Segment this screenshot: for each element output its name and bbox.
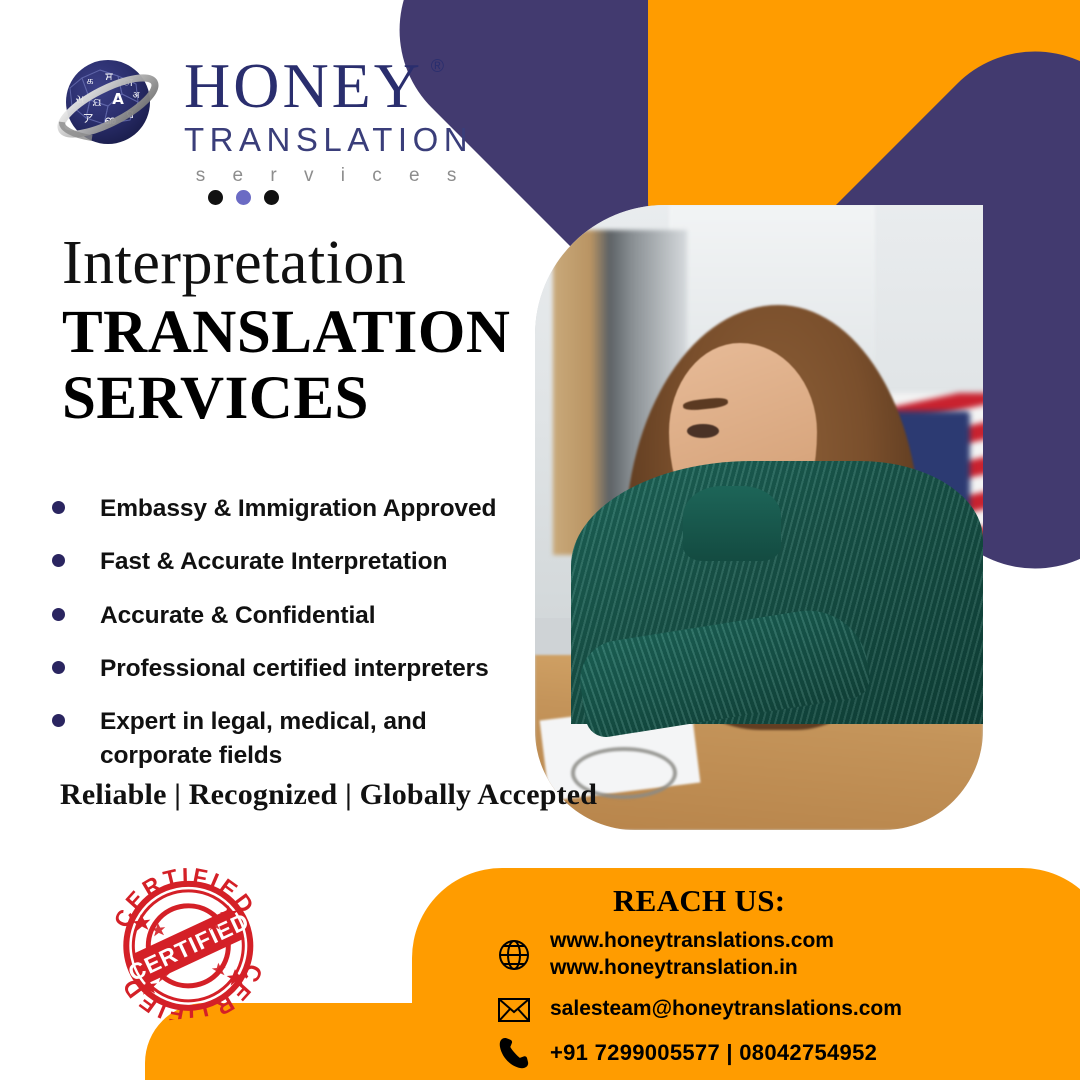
globe-icon: [492, 938, 536, 972]
contact-list: www.honeytranslations.com www.honeytrans…: [492, 928, 902, 1080]
feature-label: Embassy & Immigration Approved: [100, 492, 496, 526]
list-item: Professional certified interpreters: [52, 652, 522, 686]
contact-row-email[interactable]: salesteam@honeytranslations.com: [492, 996, 902, 1024]
phone-numbers[interactable]: +91 7299005577 | 08042754952: [550, 1039, 877, 1067]
svg-text:A: A: [112, 90, 124, 108]
dot-1: [208, 190, 223, 205]
decorative-dots: [208, 190, 279, 205]
poster-canvas: க ਸ ा સ ଯ A अ ア ഌ ସ HONEY ® TR: [0, 0, 1080, 1080]
svg-text:अ: अ: [133, 91, 141, 101]
registered-trademark-icon: ®: [431, 58, 447, 75]
bullet-icon: [52, 661, 65, 674]
hero-photo-content: [535, 205, 983, 830]
feature-label: Accurate & Confidential: [100, 599, 375, 633]
headline-bold-line-2: SERVICES: [62, 366, 510, 432]
brand-logo[interactable]: க ਸ ा સ ଯ A अ ア ഌ ସ HONEY ® TR: [52, 48, 473, 187]
bullet-icon: [52, 608, 65, 621]
logo-name-tertiary: s e r v i c e s: [184, 165, 473, 187]
list-item: Fast & Accurate Interpretation: [52, 545, 522, 579]
dot-2: [236, 190, 251, 205]
email-address[interactable]: salesteam@honeytranslations.com: [550, 996, 902, 1023]
svg-text:க: க: [86, 74, 93, 87]
phone-icon: [492, 1036, 536, 1070]
feature-label: Fast & Accurate Interpretation: [100, 545, 447, 579]
dot-3: [264, 190, 279, 205]
bullet-icon: [52, 501, 65, 514]
feature-list: Embassy & Immigration Approved Fast & Ac…: [52, 492, 522, 793]
logo-name-secondary: TRANSLATION: [184, 121, 473, 159]
website-line-1[interactable]: www.honeytranslations.com: [550, 929, 834, 952]
envelope-icon: [492, 996, 536, 1024]
list-item: Embassy & Immigration Approved: [52, 492, 522, 526]
bullet-icon: [52, 554, 65, 567]
globe-languages-icon: க ਸ ा સ ଯ A अ ア ഌ ସ: [52, 48, 170, 166]
website-line-2[interactable]: www.honeytranslation.in: [550, 956, 798, 979]
contact-heading: REACH US:: [613, 883, 785, 919]
bullet-icon: [52, 714, 65, 727]
hero-photo: [535, 205, 983, 830]
list-item: Accurate & Confidential: [52, 599, 522, 633]
headline-script-line: Interpretation: [62, 232, 510, 294]
logo-name-primary: HONEY: [184, 50, 423, 121]
feature-label: Expert in legal, medical, and corporate …: [100, 705, 460, 774]
list-item: Expert in legal, medical, and corporate …: [52, 705, 522, 774]
headline-bold-line-1: TRANSLATION: [62, 300, 510, 366]
logo-wordmark: HONEY ® TRANSLATION s e r v i c e s: [184, 48, 473, 187]
tagline: Reliable | Recognized | Globally Accepte…: [60, 778, 597, 812]
svg-text:ア: ア: [83, 112, 94, 125]
contact-row-phone[interactable]: +91 7299005577 | 08042754952: [492, 1036, 902, 1070]
contact-row-website[interactable]: www.honeytranslations.com www.honeytrans…: [492, 928, 902, 982]
feature-label: Professional certified interpreters: [100, 652, 489, 686]
certified-stamp-icon: CERTIFIED CERTIFIED CERTIFIED: [97, 860, 277, 1026]
svg-text:ਸ: ਸ: [104, 70, 113, 83]
page-title: Interpretation TRANSLATION SERVICES: [62, 232, 510, 432]
